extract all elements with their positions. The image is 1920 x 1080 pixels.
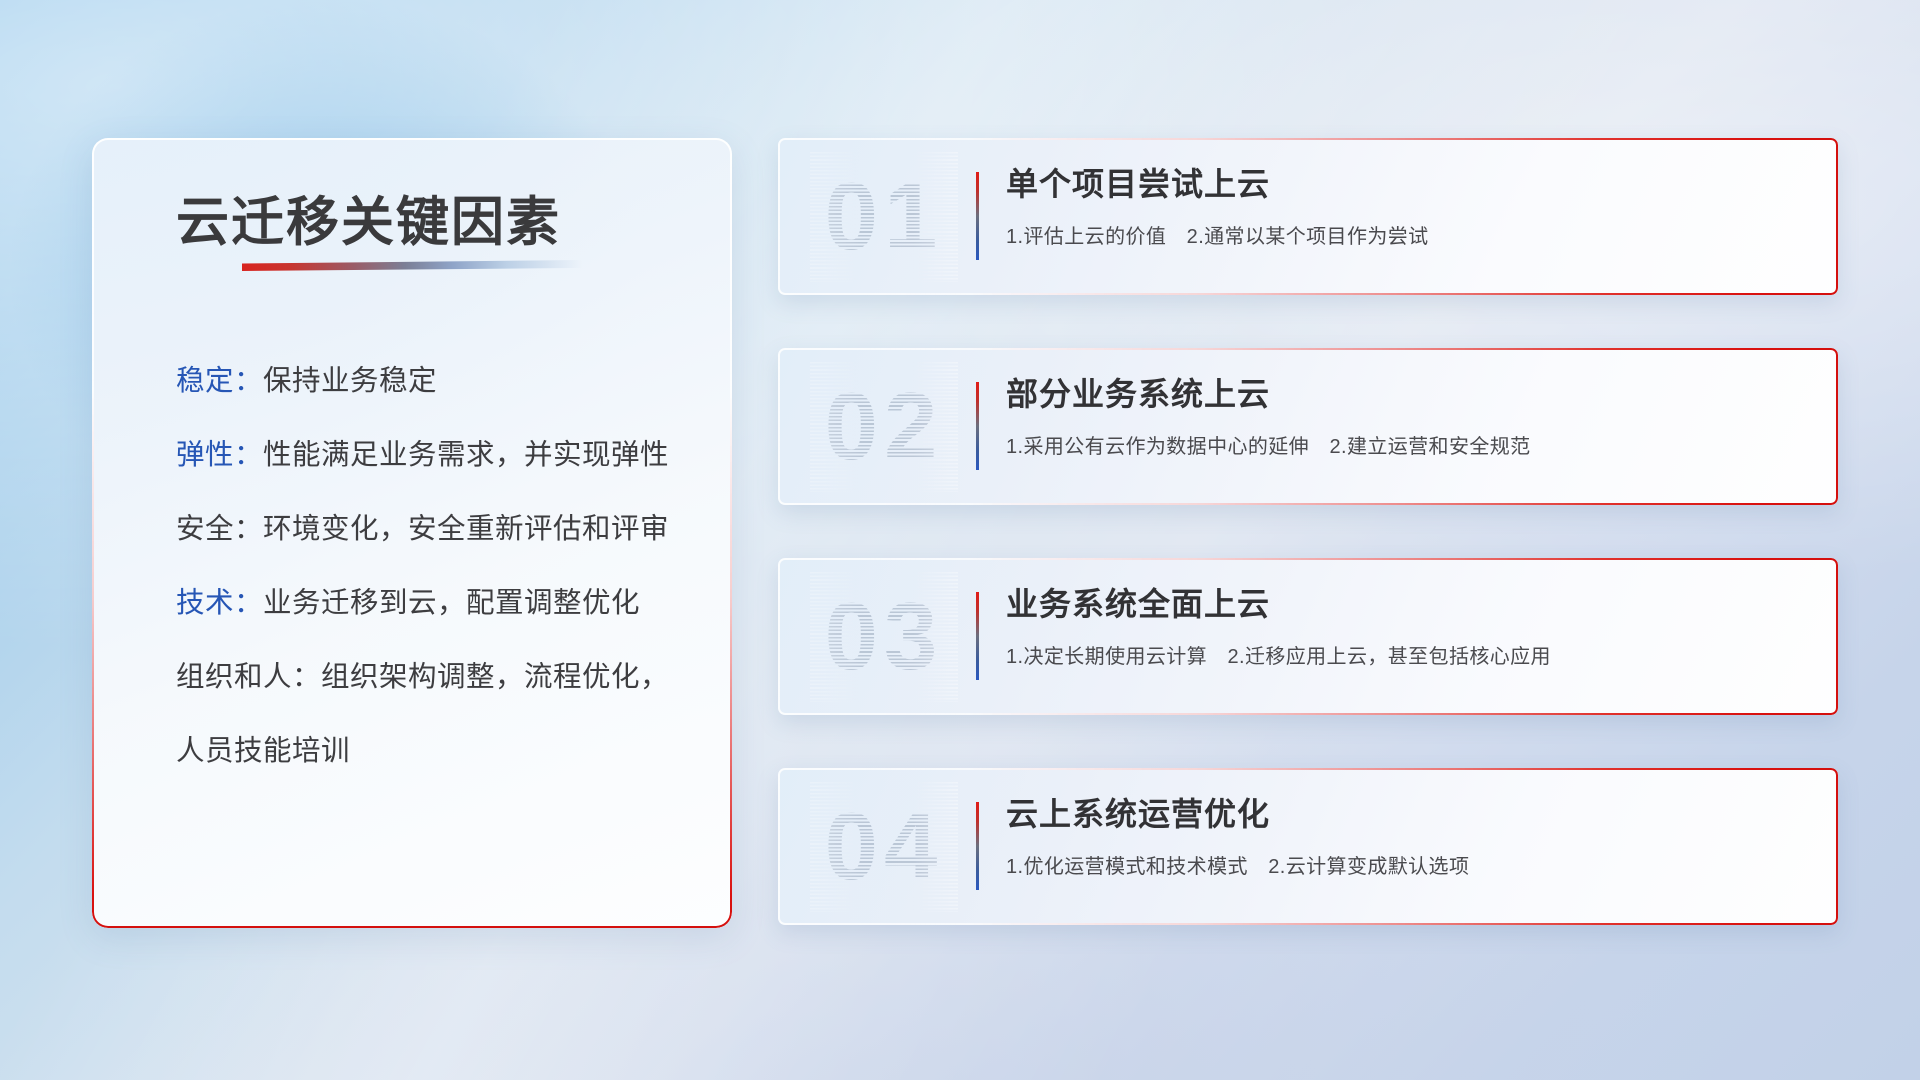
card-accent-divider [976,802,979,890]
stage-card-04[interactable]: 04 云上系统运营优化 1.优化运营模式和技术模式 2.云计算变成默认选项 [778,768,1838,925]
card-subtitle: 1.采用公有云作为数据中心的延伸 2.建立运营和安全规范 [1006,430,1808,459]
stage-card-03[interactable]: 03 业务系统全面上云 1.决定长期使用云计算 2.迁移应用上云，甚至包括核心应… [778,558,1838,715]
card-body: 业务系统全面上云 1.决定长期使用云计算 2.迁移应用上云，甚至包括核心应用 [1006,580,1808,669]
card-accent-divider [976,382,979,470]
card-accent-divider [976,592,979,680]
card-subtitle: 1.决定长期使用云计算 2.迁移应用上云，甚至包括核心应用 [1006,640,1808,669]
card-body: 云上系统运营优化 1.优化运营模式和技术模式 2.云计算变成默认选项 [1006,790,1808,879]
factor-item-organization: 组织和人：组织架构调整，流程优化，人员技能培训 [176,640,688,788]
card-body: 部分业务系统上云 1.采用公有云作为数据中心的延伸 2.建立运营和安全规范 [1006,370,1808,459]
factor-text: 环境变化，安全重新评估和评审 [263,513,669,545]
card-title: 业务系统全面上云 [1006,580,1808,628]
card-title: 单个项目尝试上云 [1006,160,1808,208]
slide-canvas: 云迁移关键因素 稳定：保持业务稳定 弹性：性能满足业务需求，并实现弹性 安全：环… [0,0,1920,1080]
card-subtitle: 1.优化运营模式和技术模式 2.云计算变成默认选项 [1006,850,1808,879]
stage-number-glyph: 03 [810,572,958,702]
factor-label: 稳定： [176,365,263,397]
stage-number-glyph: 02 [810,362,958,492]
stage-number-glyph: 04 [810,782,958,912]
factor-item-security: 安全：环境变化，安全重新评估和评审 [176,492,688,566]
factor-text: 保持业务稳定 [263,365,437,397]
page-title: 云迁移关键因素 [176,180,561,256]
stage-number-glyph: 01 [810,152,958,282]
card-subtitle: 1.评估上云的价值 2.通常以某个项目作为尝试 [1006,220,1808,249]
stage-card-02[interactable]: 02 部分业务系统上云 1.采用公有云作为数据中心的延伸 2.建立运营和安全规范 [778,348,1838,505]
key-factors-panel: 云迁移关键因素 稳定：保持业务稳定 弹性：性能满足业务需求，并实现弹性 安全：环… [92,138,732,928]
factor-item-stability: 稳定：保持业务稳定 [176,344,688,418]
factor-item-technology: 技术：业务迁移到云，配置调整优化 [176,566,688,640]
factor-text: 性能满足业务需求，并实现弹性 [263,439,669,471]
stage-card-01[interactable]: 01 单个项目尝试上云 1.评估上云的价值 2.通常以某个项目作为尝试 [778,138,1838,295]
factor-text: 业务迁移到云，配置调整优化 [263,587,640,619]
card-body: 单个项目尝试上云 1.评估上云的价值 2.通常以某个项目作为尝试 [1006,160,1808,249]
card-accent-divider [976,172,979,260]
factor-item-elasticity: 弹性：性能满足业务需求，并实现弹性 [176,418,688,492]
title-underline-rule [242,260,582,271]
card-title: 部分业务系统上云 [1006,370,1808,418]
factor-label: 安全： [176,513,263,545]
factor-label: 弹性： [176,439,263,471]
factor-label: 技术： [176,587,263,619]
card-title: 云上系统运营优化 [1006,790,1808,838]
factor-list: 稳定：保持业务稳定 弹性：性能满足业务需求，并实现弹性 安全：环境变化，安全重新… [176,344,688,788]
factor-label: 组织和人： [176,661,321,693]
stage-card-list: 01 单个项目尝试上云 1.评估上云的价值 2.通常以某个项目作为尝试 02 部… [778,138,1838,925]
